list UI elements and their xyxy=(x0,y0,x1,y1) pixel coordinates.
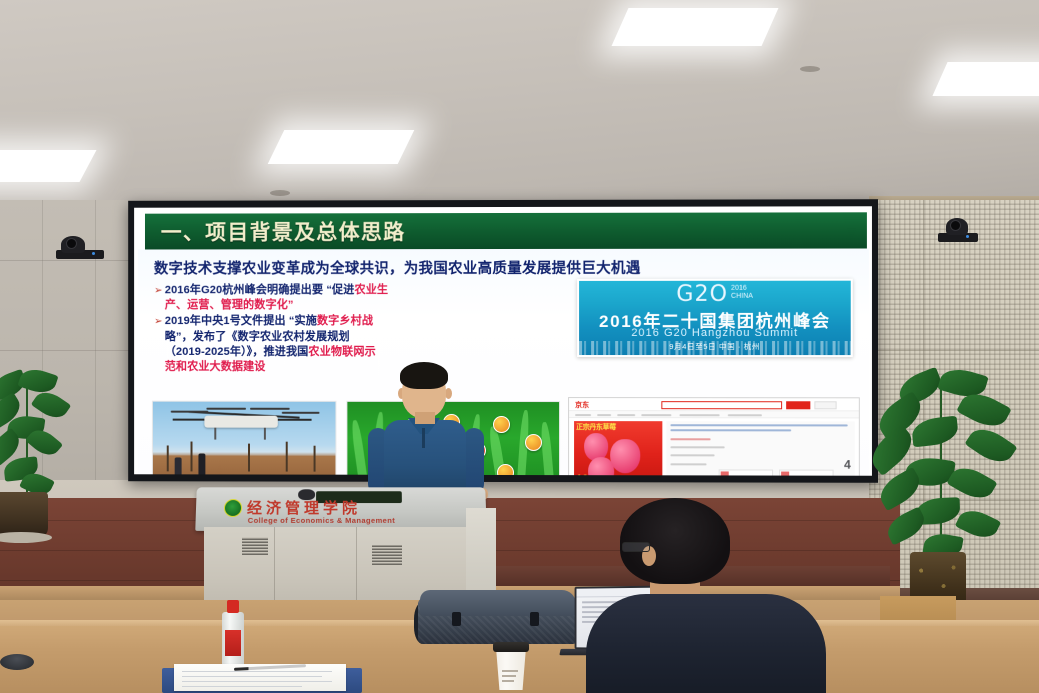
conference-room-scene: 一、项目背景及总体思路 数字技术支撑农业变革成为全球共识，为我国农业高质量发展提… xyxy=(0,0,1039,693)
bullet-line: 产、运营、管理的数字化” xyxy=(165,299,294,311)
coffee-cup[interactable] xyxy=(494,640,528,690)
g20-logo: G2O 2016 CHINA xyxy=(676,285,753,305)
desktop-microphone-base xyxy=(0,654,34,670)
slide-canvas: 一、项目背景及总体思路 数字技术支撑农业变革成为全球共识，为我国农业高质量发展提… xyxy=(134,206,872,475)
ad-headline: 正宗丹东草莓 xyxy=(576,422,616,432)
g20-skyline-graphic xyxy=(579,341,851,355)
bullet-text: 2019年中央1号文件提出 “实施数字乡村战 略”，发布了《数字农业农村发展规划… xyxy=(165,314,376,375)
ceiling xyxy=(0,0,1039,218)
arrow-bullet-icon: ➢ xyxy=(152,283,165,298)
attendee-hair xyxy=(620,498,730,584)
ceiling-light-panel xyxy=(268,130,415,164)
bullet-line: 略”，发布了《数字农业农村发展规划 xyxy=(165,331,350,343)
bullet-text: 2016年G20杭州峰会明确提出要 “促进农业生 产、运营、管理的数字化” xyxy=(165,283,388,313)
bag-buckle xyxy=(452,612,461,626)
attendee-person xyxy=(576,498,836,693)
bullet-line: 2019年中央1号文件提出 “实施 xyxy=(165,315,317,327)
slide-title-bar: 一、项目背景及总体思路 xyxy=(145,212,867,249)
cup-lid xyxy=(493,642,529,652)
university-crest-icon xyxy=(224,499,242,517)
list-item: ➢ 2016年G20杭州峰会明确提出要 “促进农业生 产、运营、管理的数字化” xyxy=(152,283,466,314)
plant-saucer xyxy=(0,532,52,543)
bullet-highlight: 数字乡村战 xyxy=(317,315,373,327)
podium-name-en: College of Economics & Management xyxy=(248,516,396,525)
slide-page-number: 4 xyxy=(844,458,851,472)
camera-lens-icon xyxy=(950,220,961,231)
ceiling-light-panel xyxy=(0,150,97,182)
g20-summit-banner: G2O 2016 CHINA 2016年二十国集团杭州峰会 2016 G20 H… xyxy=(577,279,853,357)
ceiling-light-panel xyxy=(612,8,779,46)
ptz-camera-left xyxy=(56,236,104,262)
ad-price: 10斤 xyxy=(576,473,594,476)
slide-headline: 数字技术支撑农业变革成为全球共识，为我国农业高质量发展提供巨大机遇 xyxy=(154,257,861,279)
podium-sign: 经济管理学院 xyxy=(224,499,361,517)
notepad[interactable] xyxy=(162,664,362,693)
bullet-line: 范和农业大数据建设 xyxy=(165,361,266,373)
iot-sensor-badge-icon xyxy=(525,434,542,451)
presentation-screen[interactable]: 一、项目背景及总体思路 数字技术支撑农业变革成为全球共识，为我国农业高质量发展提… xyxy=(128,199,878,483)
potted-plant-left xyxy=(0,370,76,560)
bag-buckle xyxy=(530,612,539,626)
ceiling-light-panel xyxy=(932,62,1039,96)
g20-logo-country: CHINA xyxy=(731,293,753,300)
ceiling-vent xyxy=(800,66,820,72)
jd-logo: 京东 xyxy=(575,400,589,410)
g20-logo-sub: 2016 CHINA xyxy=(731,285,753,301)
bullet-line: （2019-2025年）》，推进我国 xyxy=(165,346,309,358)
slide-title: 一、项目背景及总体思路 xyxy=(145,216,406,246)
ceiling-vent xyxy=(270,190,290,196)
bottle-label xyxy=(225,630,241,656)
ptz-camera-right xyxy=(938,218,978,246)
bullet-line: 2016年G20杭州峰会明确提出要 “促进 xyxy=(165,284,355,296)
bag-flap xyxy=(420,590,576,616)
variant-card[interactable] xyxy=(719,469,773,475)
g20-logo-year: 2016 xyxy=(731,285,747,292)
photo-jd-ecommerce: 京东 正宗丹东草莓 xyxy=(568,397,860,476)
photo-drone-spraying xyxy=(152,401,337,476)
water-bottle[interactable] xyxy=(222,600,244,668)
bottle-cap xyxy=(227,600,239,613)
iot-sensor-badge-icon xyxy=(493,416,510,433)
iot-sensor-badge-icon xyxy=(497,464,514,476)
presenter-person xyxy=(360,358,490,508)
bullet-highlight: 农业物联网示 xyxy=(308,346,375,358)
messenger-bag[interactable] xyxy=(418,586,578,644)
bullet-highlight: 农业生 xyxy=(354,284,388,296)
product-detail-pane xyxy=(666,421,854,476)
g20-logo-text: G2O xyxy=(676,285,728,305)
cup-body xyxy=(494,648,528,690)
podium-vent-grille xyxy=(242,537,268,555)
podium-name-cn: 经济管理学院 xyxy=(247,501,361,516)
arrow-bullet-icon: ➢ xyxy=(152,315,165,330)
podium-vent-grille xyxy=(372,545,402,565)
presenter-hair xyxy=(400,362,448,389)
jd-ad-banner: 正宗丹东草莓 10斤 xyxy=(574,421,662,476)
variant-card[interactable] xyxy=(779,470,833,476)
ad-price-value: 10 xyxy=(576,473,588,476)
eyeglasses xyxy=(622,542,650,552)
slide-body: 数字技术支撑农业变革成为全球共识，为我国农业高质量发展提供巨大机遇 ➢ 2016… xyxy=(138,248,869,475)
camera-lens-icon xyxy=(66,238,77,249)
podium-top-surface: 经济管理学院 College of Economics & Management xyxy=(195,487,486,531)
attendee-suit xyxy=(586,594,826,693)
web-search-field xyxy=(661,401,782,409)
g20-title-en: 2016 G20 Hangzhou Summit xyxy=(579,327,851,339)
